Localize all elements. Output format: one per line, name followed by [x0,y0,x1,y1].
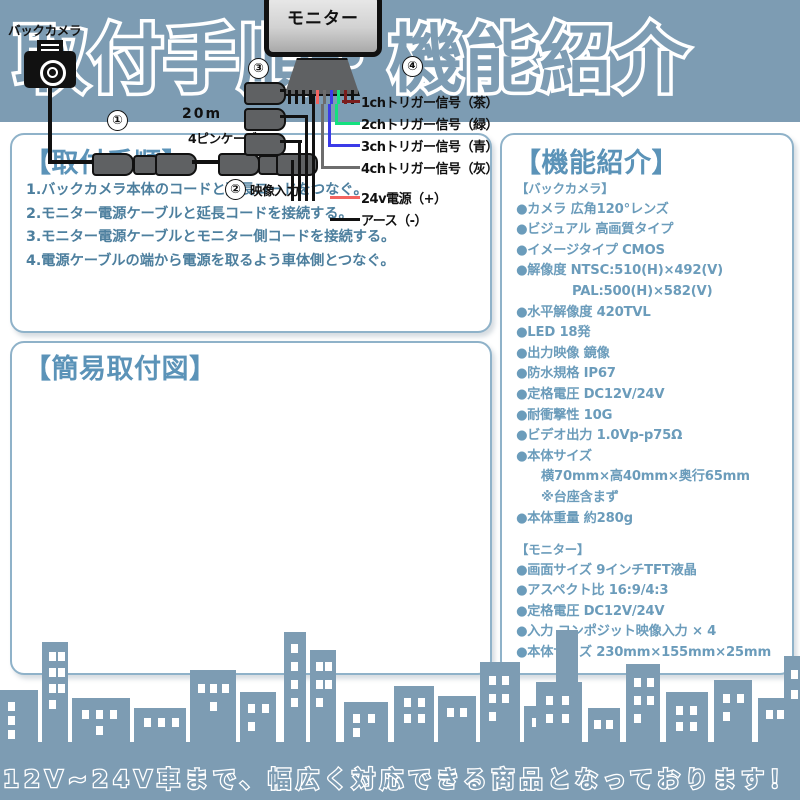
building-window [96,710,103,719]
installation-step: 4.電源ケーブルの端から電源を取るよう車体側とつなぐ。 [26,250,476,274]
cable-length-label: 20m [182,106,222,122]
building-window [316,680,323,689]
building [480,662,520,742]
installation-step: 3.モニター電源ケーブルとモニター側コードを接続する。 [26,226,476,250]
trigger-wire-leader [342,100,360,103]
building-window [368,714,375,723]
trigger-signal-label: アース（-） [361,210,427,229]
connector-camera-plug [92,153,134,176]
trigger-wire-leader [321,166,360,169]
building-window [291,644,298,653]
building-window [676,706,683,715]
building-window [8,730,15,739]
harness-wire [337,90,340,104]
building-window [502,694,509,703]
connector-input-3 [244,133,286,156]
specifications-panel: 【機能紹介】 【バックカメラ】●カメラ 広角120°レンズ●ビジュアル 高画質タ… [500,133,794,675]
monitor-label: モニター [269,0,377,52]
trigger-wire-riser [335,104,338,122]
building [240,692,276,742]
spec-item: ●水平解像度 420TVL [516,303,786,324]
wiring-diagram-heading: 【簡易取付図】 [24,347,217,386]
marker-two: ② [225,179,246,200]
spec-group-monitor: 【モニター】 [516,540,786,561]
building-window [262,704,269,713]
building-window [634,714,641,723]
back-camera-label: バックカメラ [8,20,81,39]
building-window [291,680,298,689]
spec-item: ●カメラ 広角120°レンズ [516,200,786,221]
building-window [210,684,217,693]
building-window [634,678,641,687]
building-window [172,718,179,727]
building-window [647,678,654,687]
building-window [766,710,773,719]
building-window [562,696,569,705]
harness-wire [309,90,312,104]
building-window [647,696,654,705]
input-bus-2 [305,115,308,201]
trigger-wire-leader [330,196,360,199]
spec-item: ●耐衝撃性 10G [516,406,786,427]
building-window [353,714,360,723]
building-window [144,718,151,727]
connector-input-2 [244,108,286,131]
building-window [49,700,56,709]
building [134,708,186,742]
harness-wire [316,90,319,104]
building-window [325,662,332,671]
building-window [447,708,454,717]
building-window [291,698,298,707]
building-window [690,722,697,731]
building-window [404,698,411,707]
building-window [49,684,56,693]
building-window [489,712,496,721]
building-window [777,710,784,719]
spec-item: PAL:500(H)×582(V) [516,282,786,303]
trigger-wire-riser [321,104,324,166]
building-window [8,716,15,725]
camera-body-icon [24,51,76,88]
spec-item: ●アスペクト比 16:9/4:3 [516,581,786,602]
trigger-signal-label: 1chトリガー信号（茶） [361,92,498,111]
harness-wire [330,90,333,104]
building [310,650,336,742]
building [714,680,752,742]
harness-wire [323,90,326,104]
camera-wire-vertical [48,86,52,164]
trigger-signal-label: 2chトリガー信号（緑） [361,114,498,133]
spec-item: ●解像度 NTSC:510(H)×492(V) [516,261,786,282]
spec-spacer [516,529,786,540]
specifications-heading: 【機能紹介】 [514,141,679,180]
spec-item: 横70mm×高40mm×奥行65mm [516,467,786,488]
building-window [502,676,509,685]
spec-item: ●ビデオ出力 1.0Vp-p75Ω [516,426,786,447]
trigger-wire-leader [335,122,360,125]
building-window [737,694,744,703]
marker-one: ① [107,110,128,131]
spec-item: ●画面サイズ 9インチTFT液晶 [516,561,786,582]
connector-extension-left [155,153,197,176]
specifications-list: 【バックカメラ】●カメラ 広角120°レンズ●ビジュアル 高画質タイプ●イメージ… [516,179,786,664]
trigger-signal-label: 4chトリガー信号（灰） [361,158,498,177]
building [344,702,388,742]
building [190,670,236,742]
building-window [316,662,323,671]
marker-three: ③ [248,58,269,79]
building-window [562,714,569,723]
building-window [723,712,730,721]
input-bus-3 [298,140,301,201]
building-window [58,684,65,693]
building [284,632,306,742]
building-window [49,668,56,677]
building-window [291,662,298,671]
building-window [210,702,217,711]
input-bus-4 [291,160,294,201]
spec-item: ●定格電圧 DC12V/24V [516,385,786,406]
building-window [353,728,360,737]
extension-cable-run [192,160,220,164]
city-skyline-footer: 12V~24V車まで、幅広く対応できる商品となっております！ [0,670,800,800]
spec-item: ●本体サイズ [516,447,786,468]
trigger-wire-riser [328,104,331,144]
input-bus-1 [312,89,315,201]
building-window [248,722,255,731]
spec-item: ※台座含まず [516,488,786,509]
harness-wire [295,90,298,104]
building-window [489,676,496,685]
building [536,682,582,742]
building-window [316,698,323,707]
building [42,642,68,742]
camera-wire-horizontal [48,160,96,164]
spec-item: ●防水規格 IP67 [516,364,786,385]
building-window [96,726,103,735]
building-window [546,714,553,723]
monitor-device: モニター [264,0,382,57]
building-window [49,652,56,661]
building [666,692,708,742]
building-window [489,694,496,703]
spec-item: ●本体重量 約280g [516,509,786,530]
building-window [546,696,553,705]
marker-four: ④ [402,56,423,77]
trigger-signal-label: 3chトリガー信号（青） [361,136,498,155]
building-window [634,696,641,705]
building-window [791,670,798,679]
infographic-page: 取付手順・機能紹介 【取付手順】 1.バックカメラ本体のコードと延長コードをつな… [0,0,800,800]
building-window [158,718,165,727]
building-window [248,704,255,713]
building-window [690,706,697,715]
harness-wire [288,90,291,104]
camera-lens-icon [40,60,66,86]
building-window [325,680,332,689]
building [784,656,800,742]
wiring-diagram-panel: 【簡易取付図】 [10,341,492,675]
building [588,708,620,742]
spec-item: ●出力映像 鏡像 [516,344,786,365]
spec-item: ●LED 18発 [516,323,786,344]
building-window [723,694,730,703]
spec-item: ●ビジュアル 高画質タイプ [516,220,786,241]
footer-text: 12V~24V車まで、幅広く対応できる商品となっております！ [0,760,800,794]
building-window [594,720,601,729]
input-wire-2 [280,115,308,118]
spec-item: ●定格電圧 DC12V/24V [516,602,786,623]
building-window [676,722,683,731]
building-window [58,652,65,661]
building-window [82,710,89,719]
back-camera-icon [24,40,76,88]
harness-wire [302,90,305,104]
building-window [8,702,15,711]
building-window [404,714,411,723]
building [72,698,130,742]
building-window [606,720,613,729]
building-window [222,684,229,693]
building-window [460,708,467,717]
building [0,690,38,742]
building-window [198,684,205,693]
spec-item: ●イメージタイプ CMOS [516,241,786,262]
trigger-wire-leader [328,144,360,147]
spec-group-camera: 【バックカメラ】 [516,179,786,200]
trigger-wire-leader [330,218,360,221]
connector-input-1 [244,82,286,105]
building [626,664,660,742]
building-window [418,698,425,707]
trigger-signal-label: 24v電源（+） [361,188,446,207]
building-window [58,668,65,677]
building-window [418,714,425,723]
building [438,696,476,742]
building-window [791,690,798,699]
building [394,686,434,742]
building-window [110,710,117,719]
connector-extension-right [218,153,260,176]
